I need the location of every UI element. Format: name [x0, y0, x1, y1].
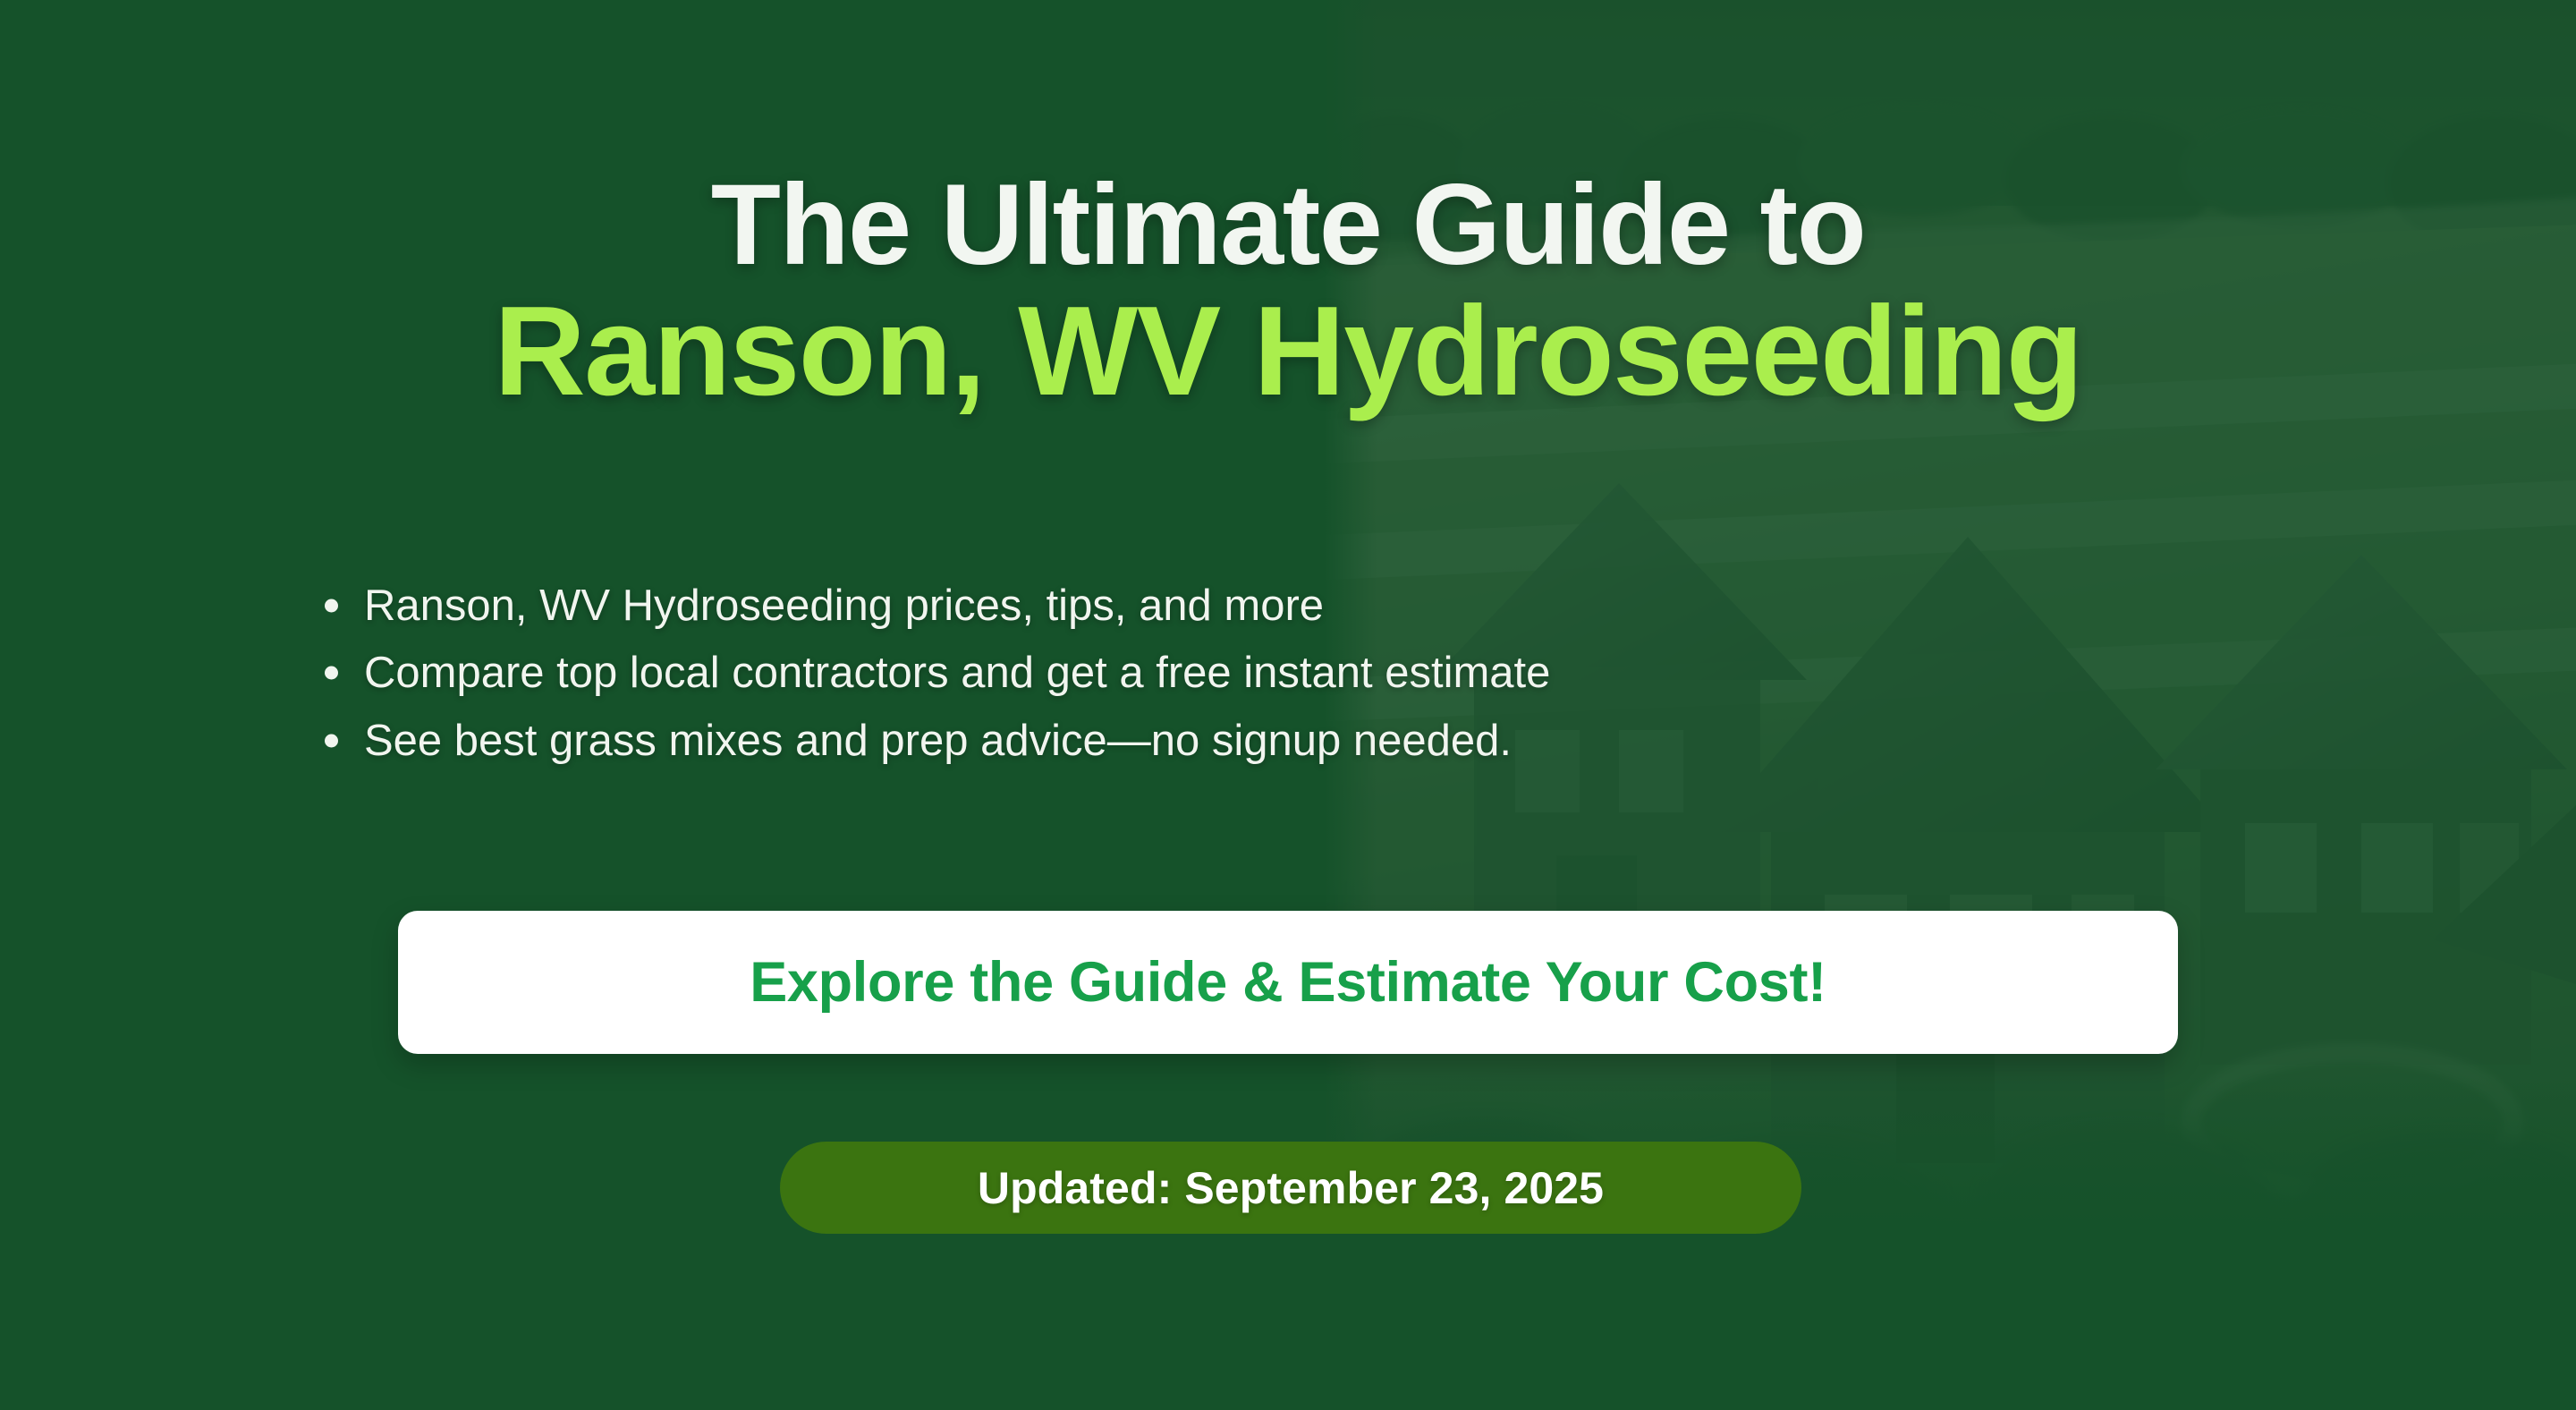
- bullet-dot-icon: [325, 599, 338, 613]
- updated-date-label: Updated: September 23, 2025: [978, 1162, 1604, 1214]
- list-item: Ranson, WV Hydroseeding prices, tips, an…: [318, 580, 1550, 632]
- page-title: The Ultimate Guide to Ranson, WV Hydrose…: [0, 166, 2576, 417]
- updated-date-badge: Updated: September 23, 2025: [780, 1142, 1801, 1234]
- title-line-2: Ranson, WV Hydroseeding: [0, 286, 2576, 417]
- list-item: Compare top local contractors and get a …: [318, 647, 1550, 699]
- explore-guide-cta-button[interactable]: Explore the Guide & Estimate Your Cost!: [398, 911, 2178, 1054]
- title-line-1: The Ultimate Guide to: [0, 166, 2576, 285]
- hero-banner: The Ultimate Guide to Ranson, WV Hydrose…: [0, 0, 2576, 1410]
- list-item: See best grass mixes and prep advice—no …: [318, 715, 1550, 767]
- feature-bullet-list: Ranson, WV Hydroseeding prices, tips, an…: [318, 580, 1550, 782]
- cta-button-label: Explore the Guide & Estimate Your Cost!: [750, 950, 1826, 1015]
- list-item-label: Ranson, WV Hydroseeding prices, tips, an…: [364, 582, 1324, 630]
- bullet-dot-icon: [325, 734, 338, 747]
- list-item-label: See best grass mixes and prep advice—no …: [364, 717, 1512, 765]
- list-item-label: Compare top local contractors and get a …: [364, 649, 1550, 697]
- bullet-dot-icon: [325, 667, 338, 680]
- banner-content: The Ultimate Guide to Ranson, WV Hydrose…: [0, 0, 2576, 1410]
